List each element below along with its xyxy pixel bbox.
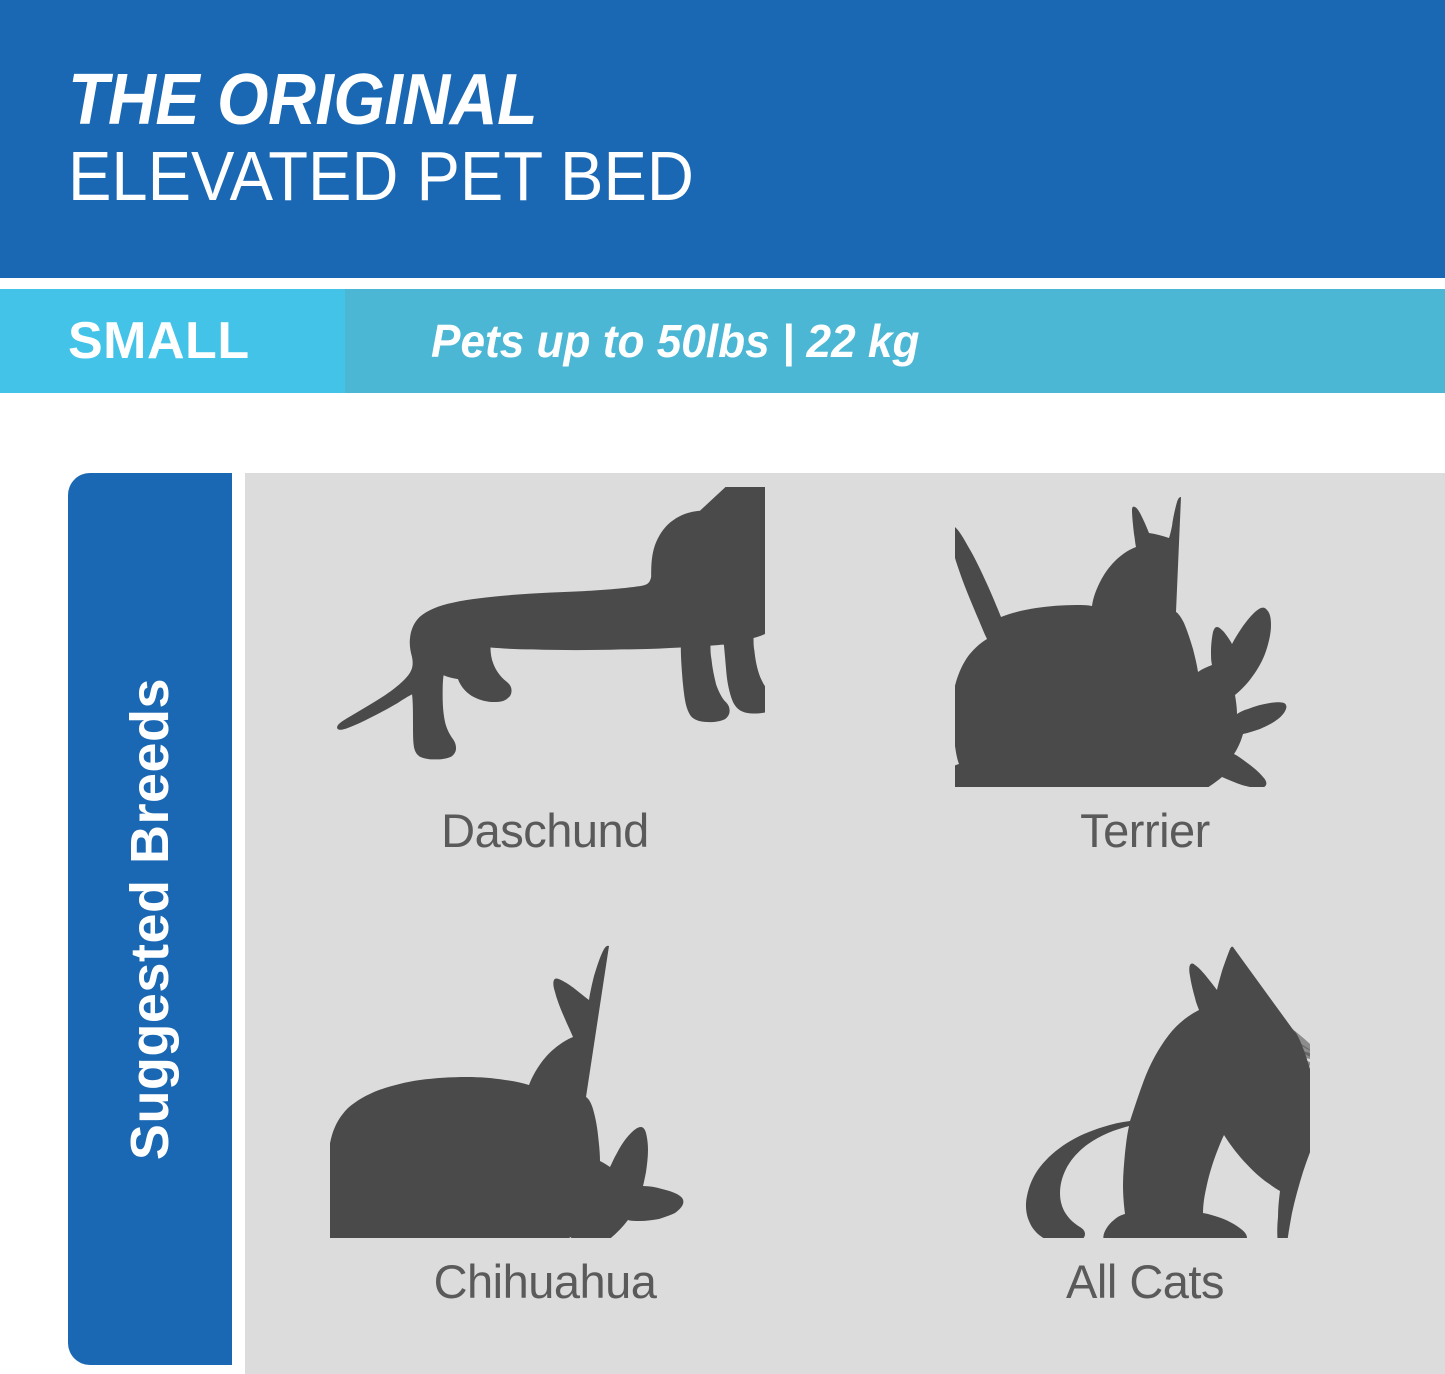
size-label-block: SMALL bbox=[0, 289, 345, 393]
suggested-breeds-panel: Daschund Terrier Chihuahua bbox=[245, 473, 1445, 1374]
breed-label: Daschund bbox=[441, 803, 649, 858]
suggested-breeds-section: Suggested Breeds Daschund Ter bbox=[0, 473, 1445, 1374]
suggested-breeds-tab-label: Suggested Breeds bbox=[119, 678, 181, 1160]
product-header-banner: THE ORIGINAL ELEVATED PET BED bbox=[0, 0, 1445, 278]
size-weight-range: Pets up to 50lbs | 22 kg bbox=[431, 314, 919, 368]
product-title-secondary: ELEVATED PET BED bbox=[68, 138, 1184, 214]
breed-item-terrier: Terrier bbox=[845, 473, 1445, 924]
breed-item-chihuahua: Chihuahua bbox=[245, 924, 845, 1374]
dachshund-silhouette-icon bbox=[315, 487, 775, 787]
breed-item-all-cats: All Cats bbox=[845, 924, 1445, 1374]
size-name: SMALL bbox=[68, 311, 250, 371]
breed-label: Terrier bbox=[1080, 803, 1210, 858]
product-title-primary: THE ORIGINAL bbox=[68, 62, 1172, 138]
breeds-grid: Daschund Terrier Chihuahua bbox=[245, 473, 1445, 1374]
breed-label: All Cats bbox=[1066, 1254, 1224, 1309]
terrier-silhouette-icon bbox=[955, 487, 1335, 787]
size-band: SMALL Pets up to 50lbs | 22 kg bbox=[0, 289, 1445, 393]
size-description-block: Pets up to 50lbs | 22 kg bbox=[345, 289, 1445, 393]
header-title-block: THE ORIGINAL ELEVATED PET BED bbox=[68, 62, 1268, 214]
cat-silhouette-icon bbox=[980, 938, 1310, 1238]
chihuahua-silhouette-icon bbox=[330, 938, 760, 1238]
suggested-breeds-tab: Suggested Breeds bbox=[68, 473, 232, 1365]
breed-label: Chihuahua bbox=[434, 1254, 657, 1309]
breed-item-daschund: Daschund bbox=[245, 473, 845, 924]
